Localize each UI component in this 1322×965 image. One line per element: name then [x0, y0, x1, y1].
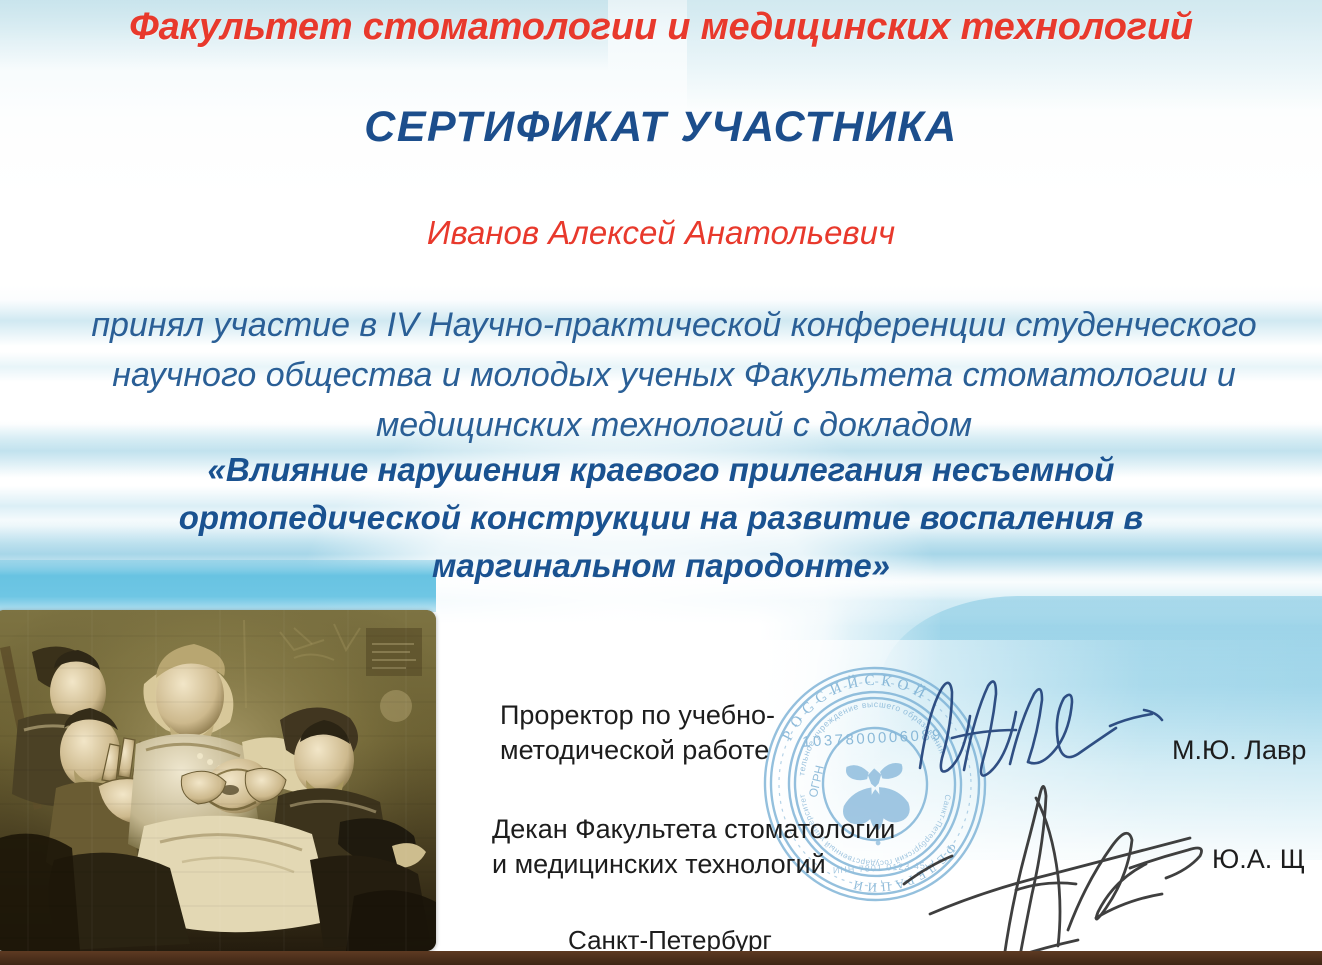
signature-dean: [900, 772, 1220, 962]
dean-role-line-1: Декан Факультета стоматологии: [492, 812, 895, 847]
recipient-name: Иванов Алексей Анатольевич: [0, 214, 1322, 252]
participation-line-2: научного общества и молодых ученых Факул…: [0, 350, 1322, 400]
report-title-line-2: ортопедической конструкции на развитие в…: [0, 494, 1322, 542]
certificate-title: СЕРТИФИКАТ УЧАСТНИКА: [0, 103, 1322, 152]
report-title: «Влияние нарушения краевого прилегания н…: [0, 446, 1322, 590]
report-title-line-3: маргинальном пародонте»: [0, 542, 1322, 590]
report-title-line-1: «Влияние нарушения краевого прилегания н…: [0, 446, 1322, 494]
classical-painting-image: [0, 610, 436, 951]
signatory-name-dean: Ю.А. Щ: [1212, 844, 1305, 875]
prorector-role-line-1: Проректор по учебно-: [500, 698, 775, 733]
bottom-desk-strip: [0, 951, 1322, 965]
participation-statement: принял участие в IV Научно-практической …: [0, 300, 1322, 450]
faculty-header: Факультет стоматологии и медицинских тех…: [0, 6, 1322, 49]
signatory-role-prorector: Проректор по учебно- методической работе: [500, 698, 775, 768]
signatory-name-prorector: М.Ю. Лавр: [1172, 735, 1306, 766]
signatory-role-dean: Декан Факультета стоматологии и медицинс…: [492, 812, 895, 882]
prorector-role-line-2: методической работе: [500, 733, 775, 768]
participation-line-1: принял участие в IV Научно-практической …: [0, 300, 1322, 350]
participation-line-3: медицинских технологий с докладом: [0, 400, 1322, 450]
certificate-document: РОССИЙСКОЙ ФЕДЕРАЦИИ тельное учреждение …: [0, 0, 1322, 965]
dean-role-line-2: и медицинских технологий: [492, 847, 895, 882]
